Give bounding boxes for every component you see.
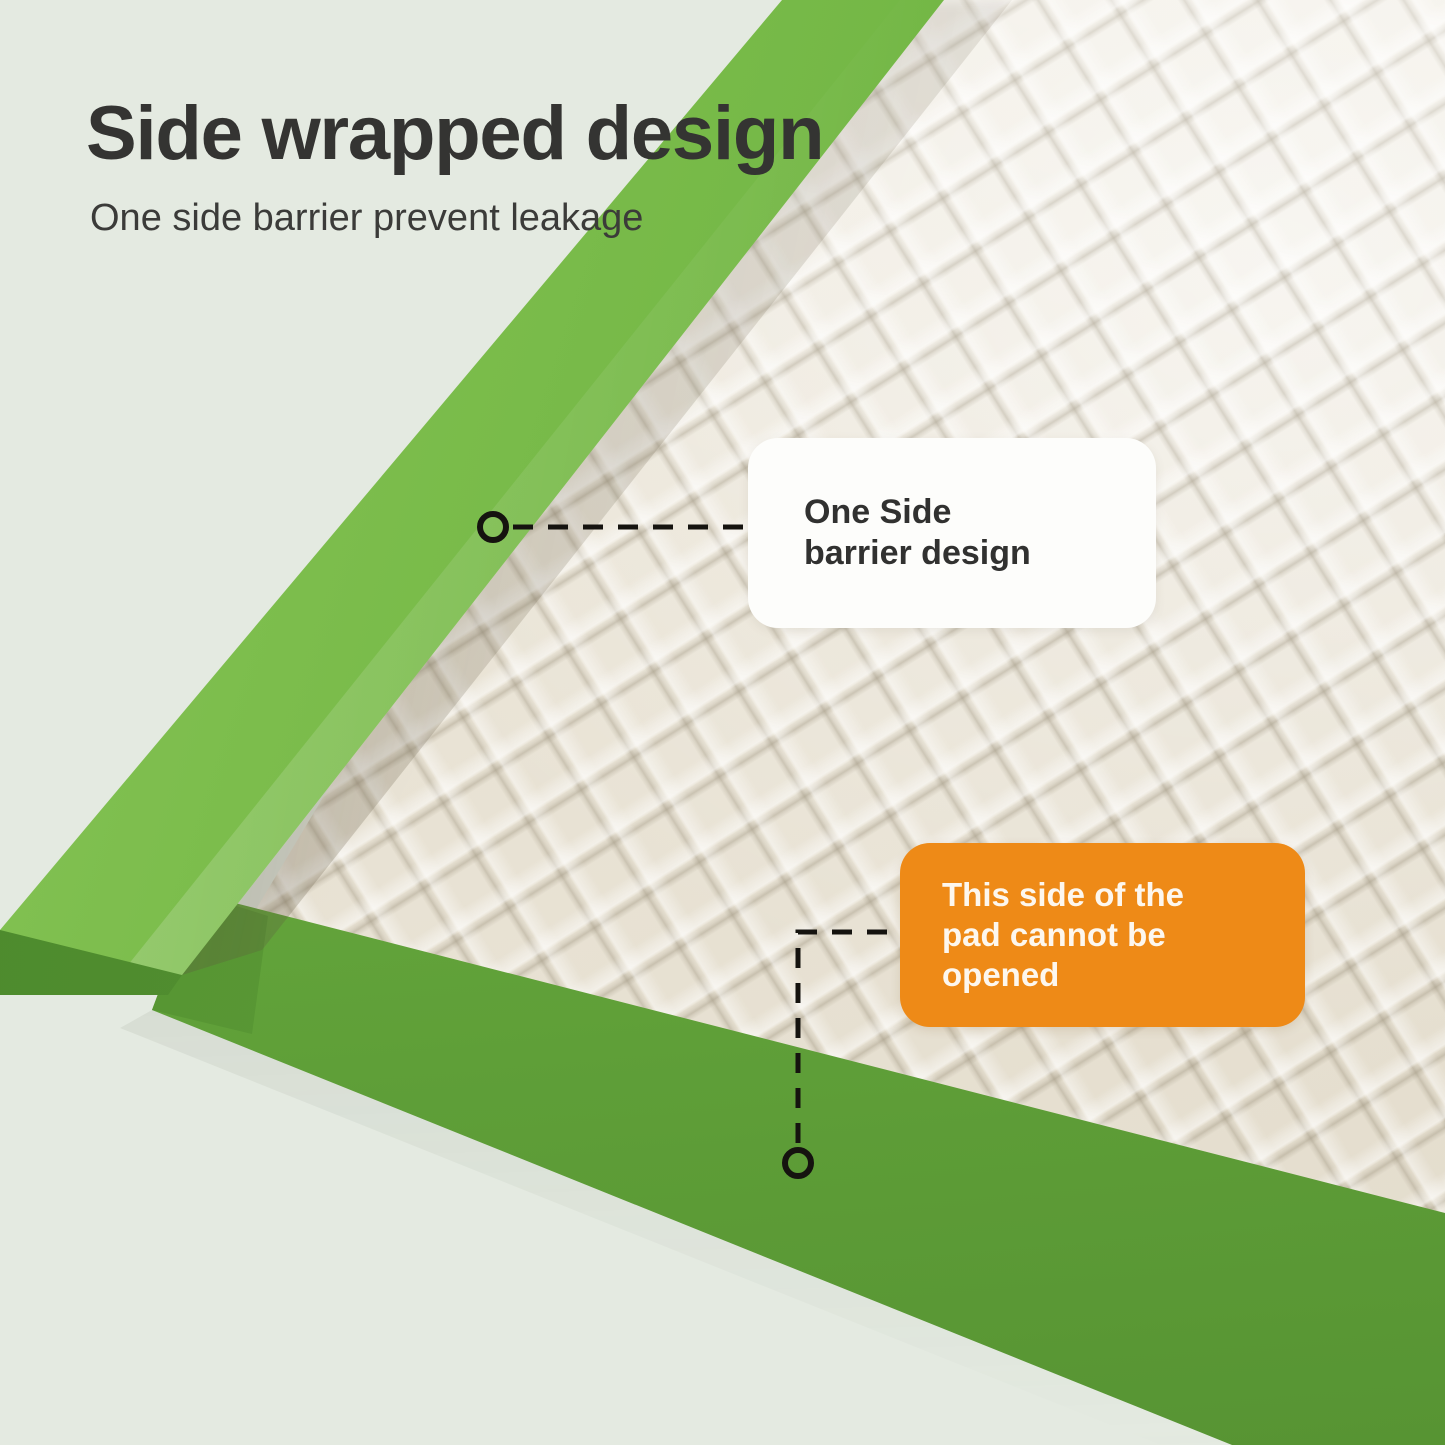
callout-one-side-barrier-text: One Side barrier design	[804, 492, 1031, 575]
page-title: Side wrapped design	[86, 96, 823, 172]
product-infographic: Side wrapped design One side barrier pre…	[0, 0, 1445, 1445]
page-subtitle: One side barrier prevent leakage	[90, 198, 823, 240]
callout-one-side-barrier: One Side barrier design	[748, 438, 1156, 628]
callout-cannot-be-opened: This side of the pad cannot be opened	[900, 843, 1305, 1027]
callout-cannot-be-opened-text: This side of the pad cannot be opened	[942, 875, 1184, 996]
headline-block: Side wrapped design One side barrier pre…	[86, 96, 823, 240]
